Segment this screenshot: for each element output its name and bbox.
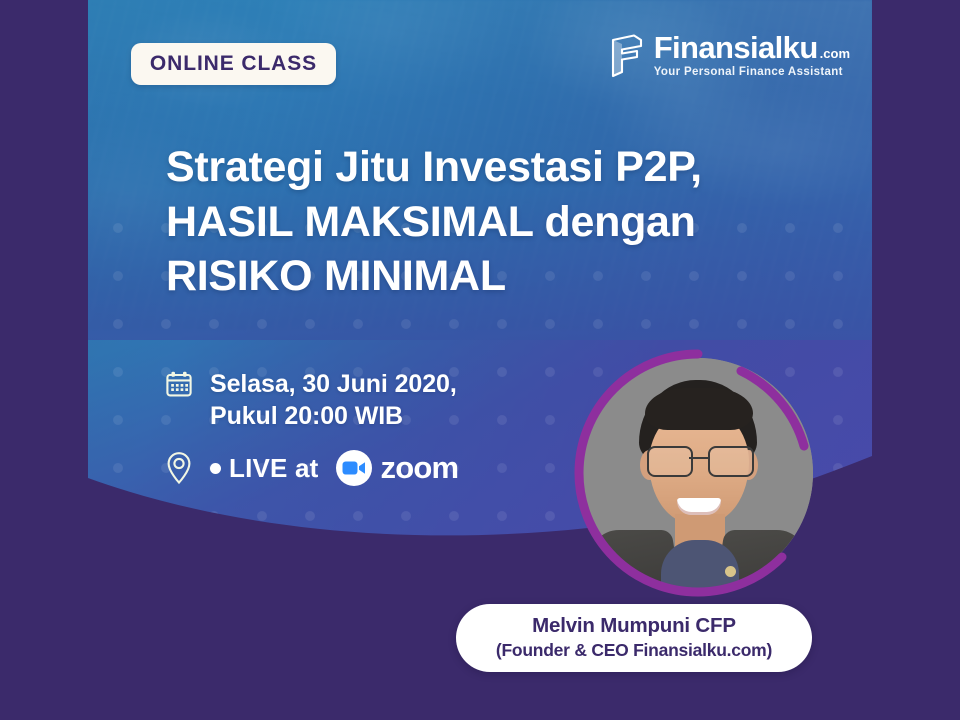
speaker-portrait: [573, 348, 823, 598]
zoom-wordmark: zoom: [381, 450, 459, 486]
live-dot-icon: [210, 463, 221, 474]
zoom-lockup: zoom: [336, 450, 459, 486]
left-border-strip: [0, 0, 88, 720]
headline: Strategi Jitu Investasi P2P, HASIL MAKSI…: [166, 140, 866, 304]
brand-logo: Finansialku .com Your Personal Finance A…: [610, 32, 850, 79]
right-border-strip: [872, 0, 960, 720]
location-row: LIVE at zoom: [162, 450, 458, 486]
live-label: LIVE at: [210, 453, 319, 484]
calendar-icon: [162, 368, 196, 398]
speaker-role: (Founder & CEO Finansialku.com): [474, 639, 794, 661]
event-date: Selasa, 30 Juni 2020,: [210, 368, 457, 400]
online-class-label: ONLINE CLASS: [150, 52, 317, 76]
webinar-promo-poster: ONLINE CLASS Finansialku .com Your Perso…: [0, 0, 960, 720]
headline-line-2: HASIL MAKSIMAL dengan: [166, 195, 866, 250]
headline-line-1: Strategi Jitu Investasi P2P,: [166, 140, 866, 195]
speaker-name: Melvin Mumpuni CFP: [474, 613, 794, 638]
schedule-row: Selasa, 30 Juni 2020, Pukul 20:00 WIB: [162, 368, 458, 432]
brand-name-row: Finansialku .com: [654, 32, 850, 63]
schedule-text: Selasa, 30 Juni 2020, Pukul 20:00 WIB: [210, 368, 457, 432]
event-time: Pukul 20:00 WIB: [210, 400, 457, 432]
live-at-text: LIVE at: [229, 453, 319, 484]
zoom-camera-icon: [336, 450, 372, 486]
map-pin-icon: [162, 451, 196, 485]
brand-logo-text: Finansialku .com Your Personal Finance A…: [654, 32, 850, 79]
event-info-block: Selasa, 30 Juni 2020, Pukul 20:00 WIB LI…: [162, 368, 458, 504]
finansialku-f-logo-icon: [610, 34, 644, 78]
online-class-badge: ONLINE CLASS: [131, 43, 336, 85]
portrait-photo-circle: [583, 358, 813, 588]
portrait-image: [583, 358, 813, 588]
speaker-name-plate: Melvin Mumpuni CFP (Founder & CEO Finans…: [456, 604, 812, 672]
brand-name: Finansialku: [654, 32, 818, 63]
brand-domain-suffix: .com: [820, 47, 850, 60]
brand-tagline: Your Personal Finance Assistant: [654, 66, 843, 78]
headline-line-3: RISIKO MINIMAL: [166, 249, 866, 304]
